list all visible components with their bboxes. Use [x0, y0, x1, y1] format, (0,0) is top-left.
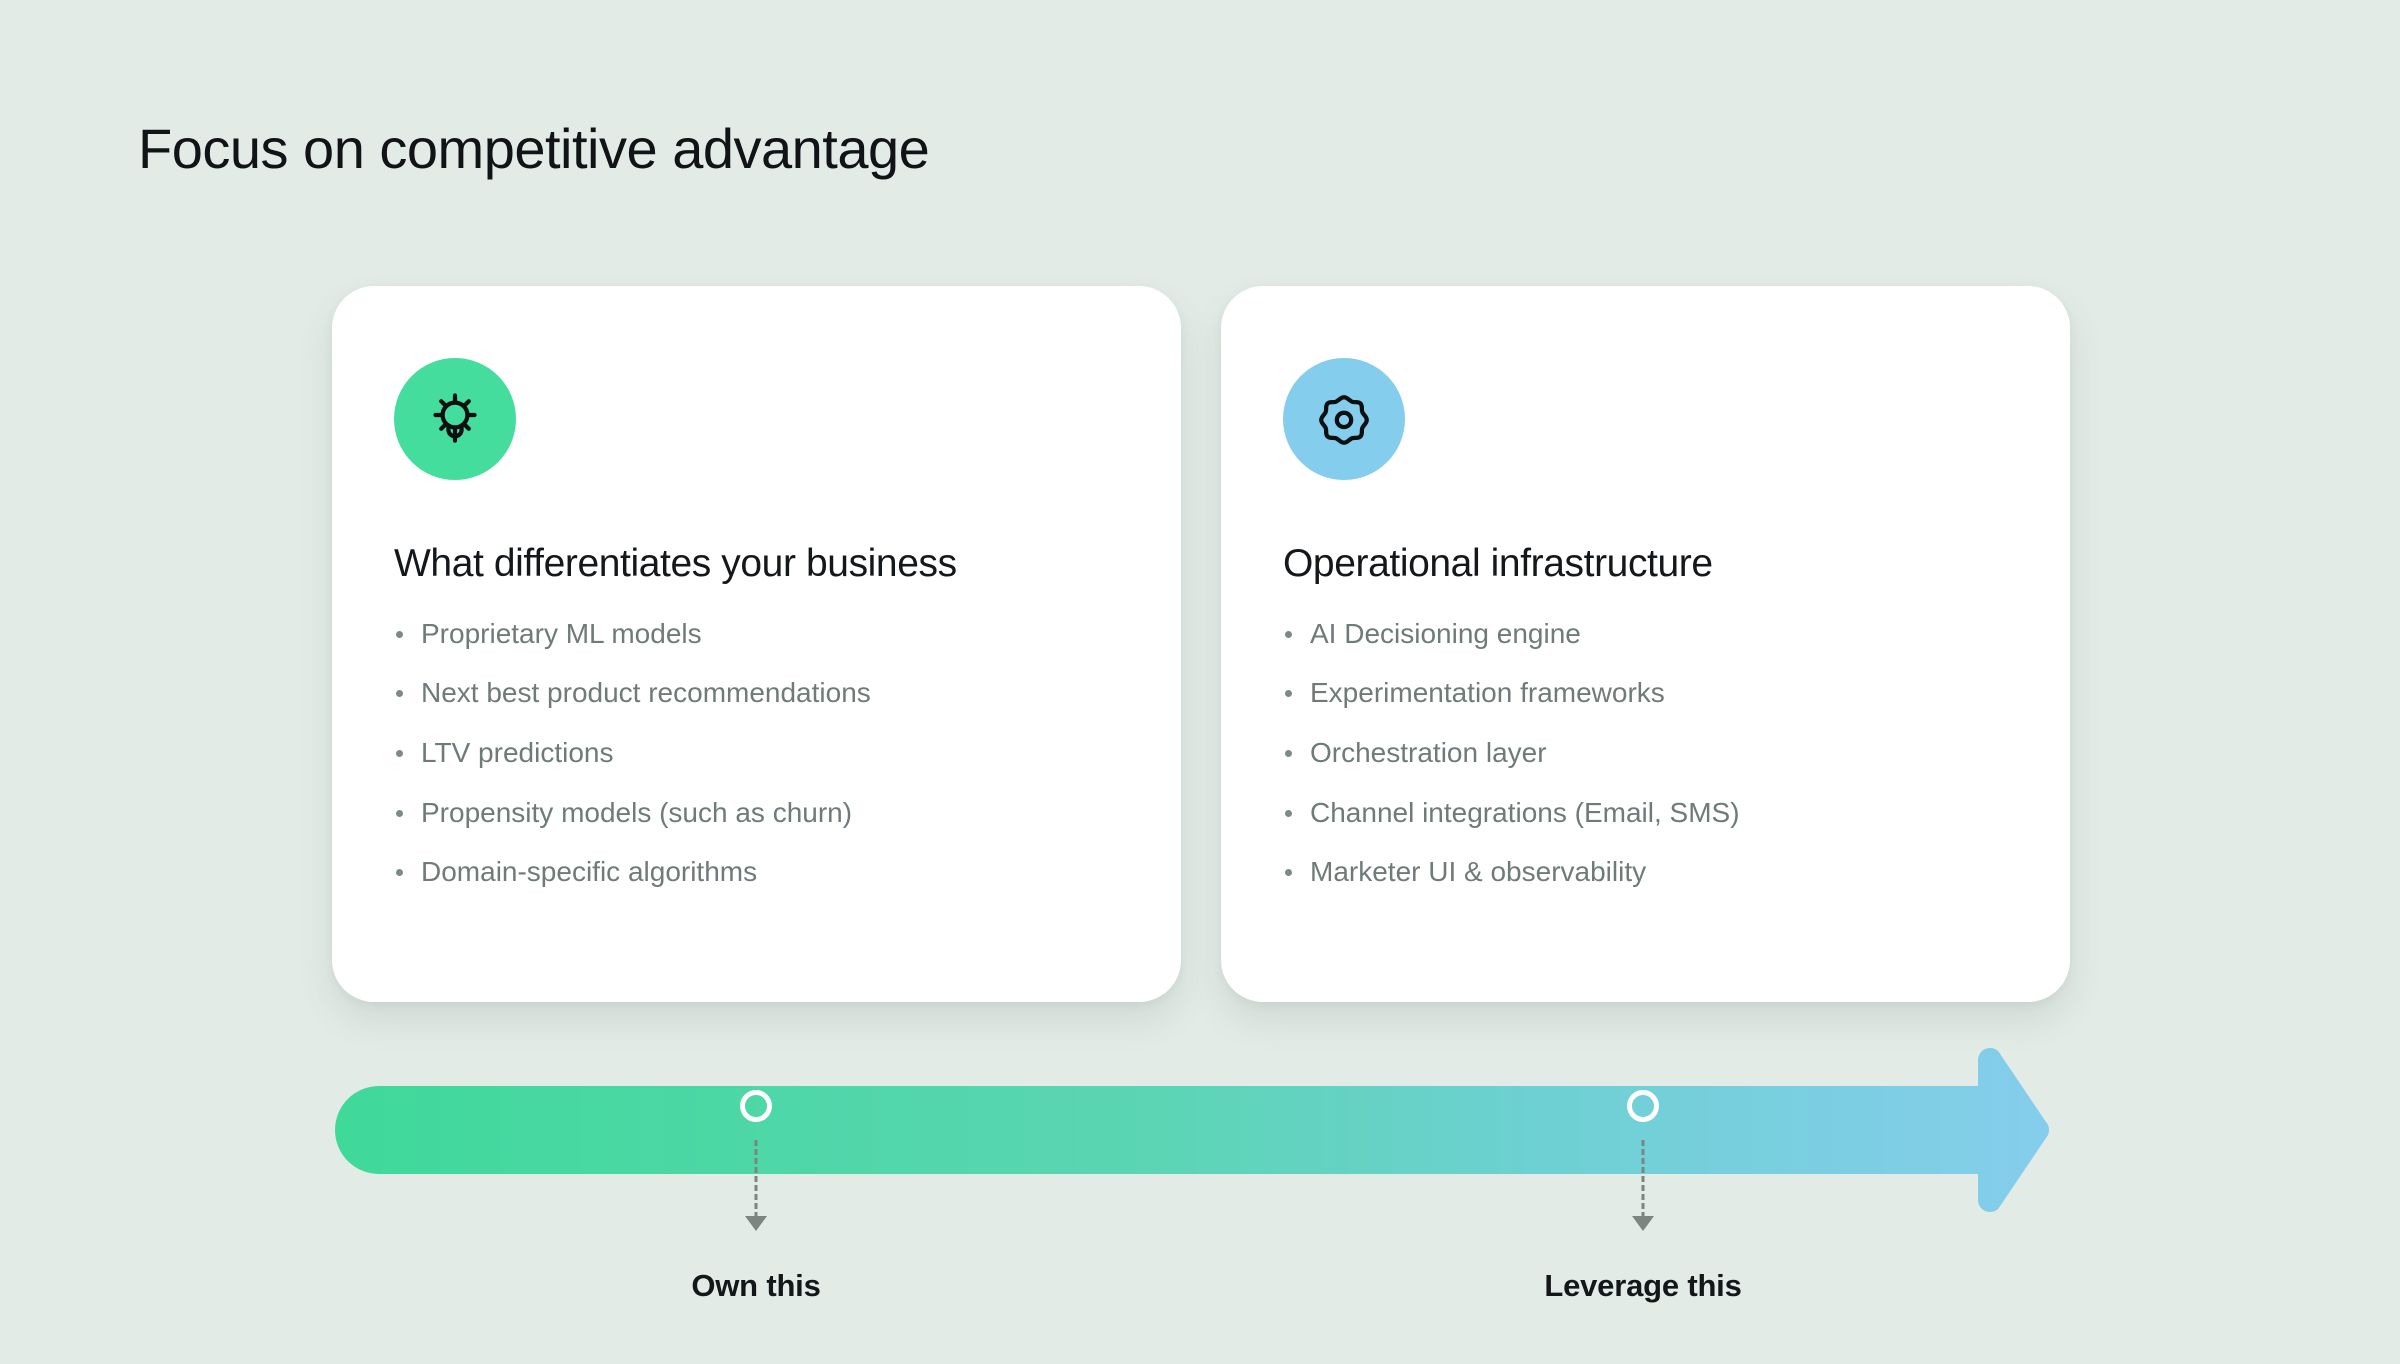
card-bullet-list: Proprietary ML models Next best product …: [394, 617, 1121, 889]
list-item: AI Decisioning engine: [1283, 617, 2010, 651]
list-item: Propensity models (such as churn): [394, 796, 1121, 830]
list-item: Domain-specific algorithms: [394, 855, 1121, 889]
spectrum-track: Own this Leverage this: [0, 1040, 2400, 1364]
track-stem-arrowhead: [745, 1216, 767, 1231]
list-item: LTV predictions: [394, 736, 1121, 770]
list-item: Next best product recommendations: [394, 676, 1121, 710]
lightbulb-icon-badge: [394, 358, 516, 480]
card-differentiators[interactable]: What differentiates your business Propri…: [332, 286, 1181, 1002]
list-item: Orchestration layer: [1283, 736, 2010, 770]
card-operational-infrastructure[interactable]: Operational infrastructure AI Decisionin…: [1221, 286, 2070, 1002]
track-label-leverage: Leverage this: [1544, 1268, 1741, 1304]
card-heading: What differentiates your business: [394, 542, 1121, 587]
list-item: Proprietary ML models: [394, 617, 1121, 651]
list-item: Channel integrations (Email, SMS): [1283, 796, 2010, 830]
track-stem: [1642, 1140, 1645, 1218]
gear-icon: [1313, 388, 1375, 450]
track-label-own: Own this: [691, 1268, 820, 1304]
card-group: What differentiates your business Propri…: [332, 286, 2070, 1002]
list-item: Marketer UI & observability: [1283, 855, 2010, 889]
gradient-arrow: [0, 1040, 2400, 1220]
track-marker-leverage[interactable]: [1627, 1090, 1659, 1122]
lightbulb-icon: [423, 387, 487, 451]
page-title: Focus on competitive advantage: [138, 118, 929, 181]
gear-icon-badge: [1283, 358, 1405, 480]
track-marker-own[interactable]: [740, 1090, 772, 1122]
list-item: Experimentation frameworks: [1283, 676, 2010, 710]
card-bullet-list: AI Decisioning engine Experimentation fr…: [1283, 617, 2010, 889]
slide-root: Focus on competitive advantage: [0, 0, 2400, 1364]
card-heading: Operational infrastructure: [1283, 542, 2010, 587]
track-stem-arrowhead: [1632, 1216, 1654, 1231]
track-stem: [755, 1140, 758, 1218]
